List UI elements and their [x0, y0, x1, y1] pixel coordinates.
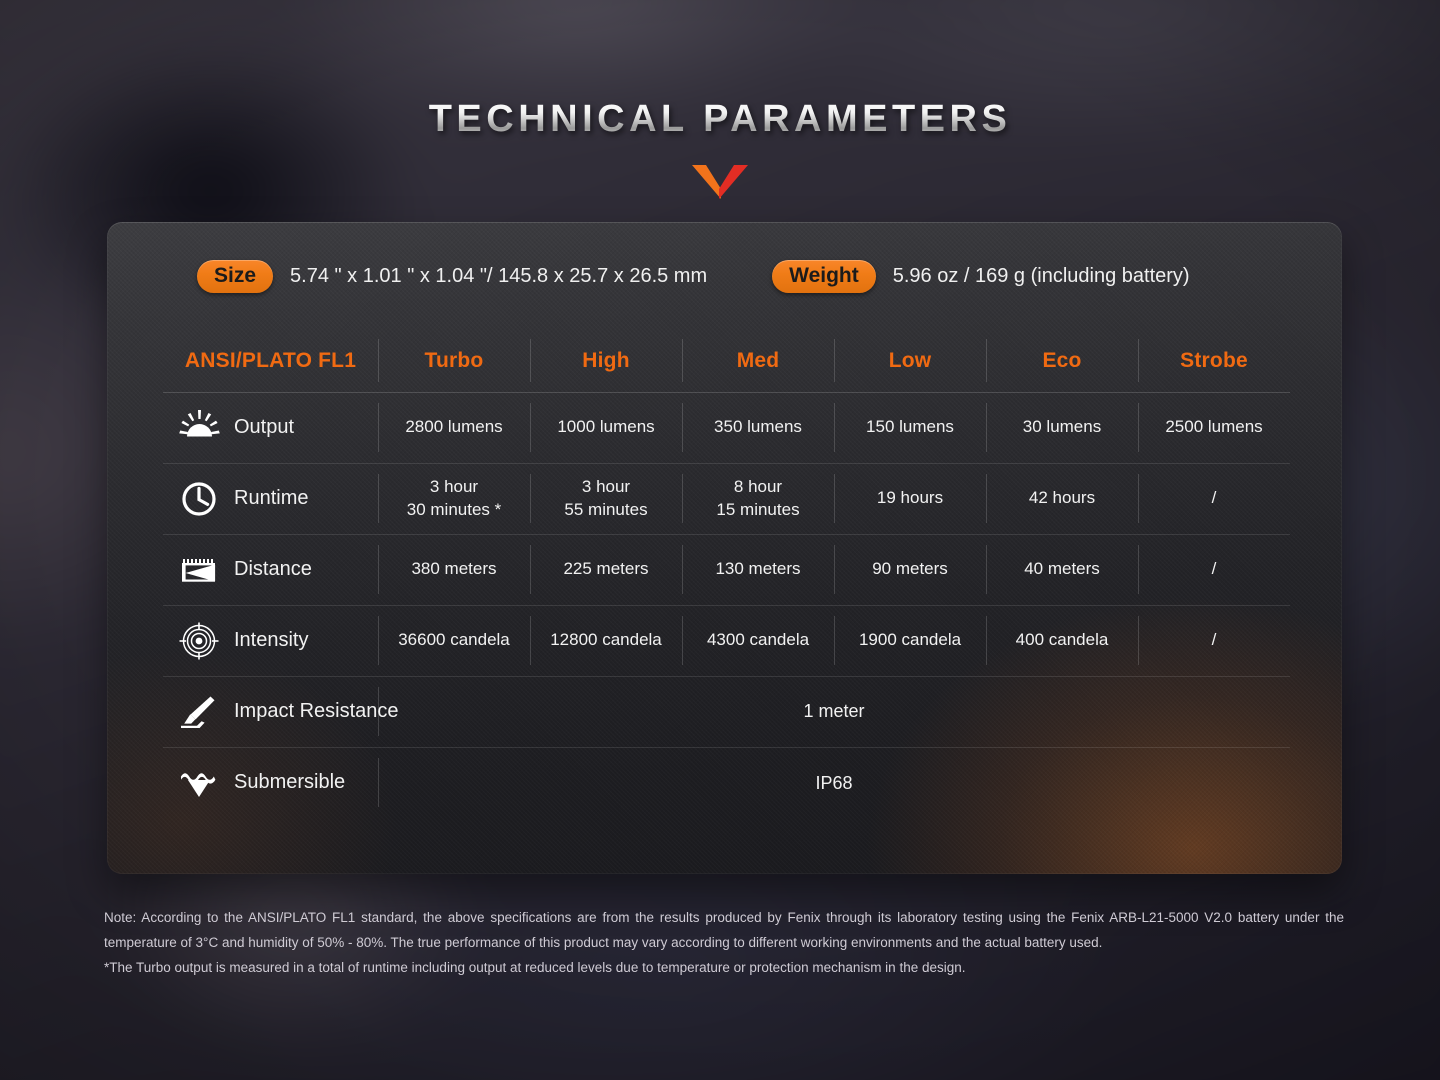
title-block: TECHNICAL PARAMETERS	[0, 98, 1440, 199]
table-row: Submersible IP68	[163, 747, 1290, 818]
table-row: Distance 380 meters 225 meters 130 meter…	[163, 534, 1290, 605]
row-label-text: Distance	[234, 556, 312, 583]
page-root: TECHNICAL PARAMETERS Size 5.74 " x 1.01 …	[0, 0, 1440, 1080]
weight-value: 5.96 oz / 169 g (including battery)	[893, 265, 1190, 288]
cell-output-strobe: 2500 lumens	[1138, 392, 1290, 463]
cell-intensity-turbo: 36600 candela	[378, 605, 530, 676]
table-header-row: ANSI/PLATO FL1 Turbo High Med Low Eco St…	[163, 330, 1290, 392]
footnote-paragraph-1: Note: According to the ANSI/PLATO FL1 st…	[104, 905, 1344, 955]
cell-output-high: 1000 lumens	[530, 392, 682, 463]
cell-runtime-strobe: /	[1138, 463, 1290, 534]
table-body: Output 2800 lumens 1000 lumens 350 lumen…	[163, 392, 1290, 818]
cell-runtime-eco: 42 hours	[986, 463, 1138, 534]
weight-badge: Weight	[772, 260, 876, 293]
target-intensity-icon	[177, 621, 221, 661]
cell-output-low: 150 lumens	[834, 392, 986, 463]
cell-output-turbo: 2800 lumens	[378, 392, 530, 463]
cell-distance-high: 225 meters	[530, 534, 682, 605]
table-row: Intensity 36600 candela 12800 candela 43…	[163, 605, 1290, 676]
page-title: TECHNICAL PARAMETERS	[429, 98, 1012, 141]
column-header-strobe: Strobe	[1138, 330, 1290, 392]
cell-intensity-high: 12800 candela	[530, 605, 682, 676]
cell-distance-strobe: /	[1138, 534, 1290, 605]
column-header-eco: Eco	[986, 330, 1138, 392]
table-header: ANSI/PLATO FL1 Turbo High Med Low Eco St…	[163, 330, 1290, 392]
cell-distance-low: 90 meters	[834, 534, 986, 605]
beam-distance-icon	[177, 550, 221, 590]
weight-group: Weight 5.96 oz / 169 g (including batter…	[772, 260, 1189, 293]
cell-intensity-eco: 400 candela	[986, 605, 1138, 676]
cell-runtime-high: 3 hour 55 minutes	[530, 463, 682, 534]
column-header-high: High	[530, 330, 682, 392]
cell-output-med: 350 lumens	[682, 392, 834, 463]
cell-distance-med: 130 meters	[682, 534, 834, 605]
impact-drop-icon	[177, 692, 221, 732]
cell-runtime-low: 19 hours	[834, 463, 986, 534]
cell-intensity-strobe: /	[1138, 605, 1290, 676]
column-header-med: Med	[682, 330, 834, 392]
cell-distance-eco: 40 meters	[986, 534, 1138, 605]
column-header-low: Low	[834, 330, 986, 392]
row-header-impact-resistance: Impact Resistance	[163, 676, 378, 747]
row-label-text: Output	[234, 414, 294, 441]
row-header-runtime: Runtime	[163, 463, 378, 534]
cell-runtime-turbo: 3 hour 30 minutes *	[378, 463, 530, 534]
specifications-table: ANSI/PLATO FL1 Turbo High Med Low Eco St…	[163, 330, 1290, 818]
row-label-text: Submersible	[234, 769, 345, 796]
cell-intensity-med: 4300 candela	[682, 605, 834, 676]
row-label-text: Runtime	[234, 485, 308, 512]
cell-runtime-med: 8 hour 15 minutes	[682, 463, 834, 534]
submersible-water-icon	[177, 763, 221, 803]
row-header-submersible: Submersible	[163, 747, 378, 818]
cell-distance-turbo: 380 meters	[378, 534, 530, 605]
footnote-block: Note: According to the ANSI/PLATO FL1 st…	[104, 905, 1344, 980]
cell-impact-resistance-value: 1 meter	[378, 676, 1290, 747]
spec-card: Size 5.74 " x 1.01 " x 1.04 "/ 145.8 x 2…	[107, 222, 1342, 874]
column-header-turbo: Turbo	[378, 330, 530, 392]
table-row: Impact Resistance 1 meter	[163, 676, 1290, 747]
cell-intensity-low: 1900 candela	[834, 605, 986, 676]
clock-icon	[177, 479, 221, 519]
row-label-text: Impact Resistance	[234, 698, 399, 725]
row-header-intensity: Intensity	[163, 605, 378, 676]
row-label-text: Intensity	[234, 627, 308, 654]
size-value: 5.74 " x 1.01 " x 1.04 "/ 145.8 x 25.7 x…	[290, 265, 707, 288]
row-header-distance: Distance	[163, 534, 378, 605]
cell-output-eco: 30 lumens	[986, 392, 1138, 463]
size-badge: Size	[197, 260, 273, 293]
cell-submersible-value: IP68	[378, 747, 1290, 818]
table-row: Output 2800 lumens 1000 lumens 350 lumen…	[163, 392, 1290, 463]
row-header-output: Output	[163, 392, 378, 463]
footnote-paragraph-2: *The Turbo output is measured in a total…	[104, 955, 1344, 980]
sunburst-icon	[177, 408, 221, 448]
chevron-down-icon	[690, 163, 750, 199]
dimensions-row: Size 5.74 " x 1.01 " x 1.04 "/ 145.8 x 2…	[163, 222, 1286, 330]
table-row: Runtime 3 hour 30 minutes * 3 hour 55 mi…	[163, 463, 1290, 534]
column-header-standard: ANSI/PLATO FL1	[163, 330, 378, 392]
